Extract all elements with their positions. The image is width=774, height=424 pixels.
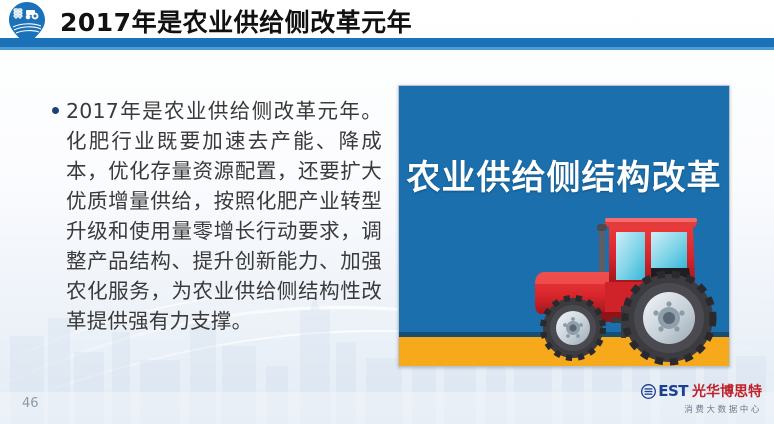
slide-canvas: 2017年是农业供给侧改革元年 2017年是农业供给侧改革元年。化肥行业既要加速… [0, 0, 774, 424]
page-title: 2017年是农业供给侧改革元年 [60, 3, 412, 39]
bullet-dot-icon [52, 107, 59, 114]
illustration-caption: 农业供给侧结构改革 [399, 150, 729, 199]
illustration-image: 农业供给侧结构改革 [398, 85, 730, 367]
bullet-text: 2017年是农业供给侧改革元年。化肥行业既要加速去产能、降成本，优化存量资源配置… [66, 96, 382, 336]
brand-chinese-text: 光华博思特 [692, 381, 762, 401]
best-circle-logo-icon [641, 384, 656, 399]
slide-header: 2017年是农业供给侧改革元年 [0, 0, 774, 52]
list-item: 2017年是农业供给侧改革元年。化肥行业既要加速去产能、降成本，优化存量资源配置… [52, 96, 382, 336]
brand-subtitle-text: 消费大数据中心 [641, 403, 762, 415]
red-tractor-illustration-icon [517, 206, 730, 366]
brand-latin-text: EST [658, 382, 688, 400]
page-number: 46 [22, 396, 39, 411]
brand-logo: EST 光华博思特 消费大数据中心 [641, 381, 762, 415]
header-divider-bar-light [0, 47, 774, 50]
header-divider-bar [0, 38, 774, 47]
content-bullet-list: 2017年是农业供给侧改革元年。化肥行业既要加速去产能、降成本，优化存量资源配置… [52, 96, 382, 336]
